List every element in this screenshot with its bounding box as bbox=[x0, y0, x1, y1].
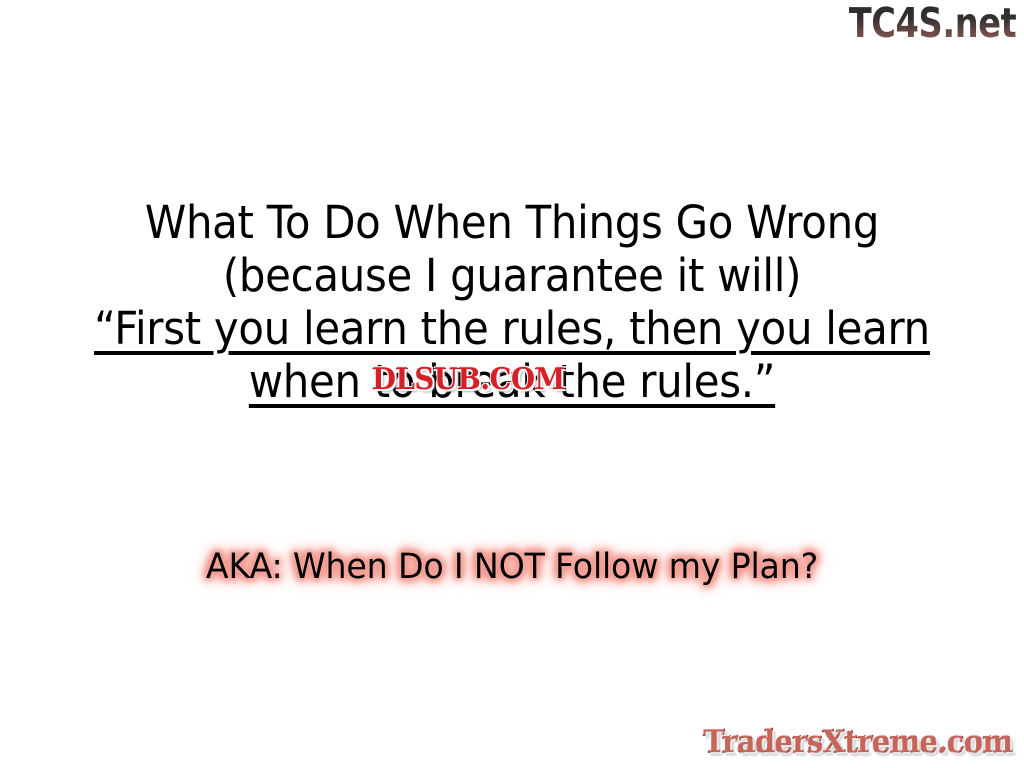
title-line-1: What To Do When Things Go Wrong bbox=[36, 196, 988, 249]
watermark-tc4s: TC4S.net bbox=[848, 2, 1016, 45]
watermark-tradersxtreme: TradersXtreme.com bbox=[703, 724, 1012, 760]
title-line-2: (because I guarantee it will) bbox=[36, 249, 988, 302]
watermark-dlsub: DLSUB.COM bbox=[372, 364, 565, 396]
slide-canvas: TC4S.net What To Do When Things Go Wrong… bbox=[0, 0, 1024, 768]
subtitle-aka: AKA: When Do I NOT Follow my Plan? bbox=[26, 545, 999, 589]
quote-line-1: “First you learn the rules, then you lea… bbox=[36, 302, 988, 355]
